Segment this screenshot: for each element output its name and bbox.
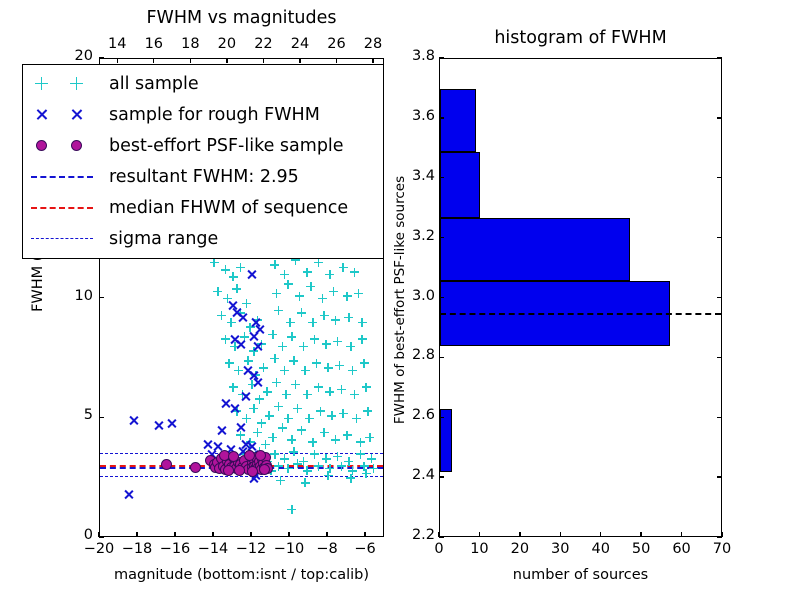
- data-point: [343, 431, 352, 440]
- legend-key: [23, 68, 109, 99]
- data-point: [363, 407, 372, 416]
- histogram-bar: [440, 152, 480, 218]
- data-point: [253, 316, 262, 325]
- data-point: [229, 403, 240, 414]
- data-point: [356, 438, 365, 447]
- hist-xtick-label: 0: [419, 541, 459, 557]
- data-point: [129, 415, 140, 426]
- data-point: [367, 454, 376, 463]
- data-point: [314, 258, 323, 267]
- data-point: [223, 294, 232, 303]
- hist-ytick-right: [717, 237, 722, 238]
- data-point: [274, 402, 283, 411]
- hist-ytick-left: [439, 476, 444, 477]
- data-point: [310, 335, 319, 344]
- data-point: [365, 433, 374, 442]
- hist-ytick-right: [717, 476, 722, 477]
- xtick-label-top: 14: [97, 36, 137, 52]
- legend-entry: best-effort PSF-like sample: [23, 130, 383, 161]
- data-point: [272, 378, 281, 387]
- data-point: [241, 439, 252, 450]
- data-point: [252, 341, 263, 352]
- hist-xtick-label: 10: [459, 541, 499, 557]
- data-point: [213, 287, 222, 296]
- hist-xtick: [681, 532, 682, 537]
- data-point: [252, 377, 263, 388]
- xtick-bottom: [136, 532, 137, 537]
- histogram-bar: [440, 409, 452, 472]
- hist-ytick-left: [439, 357, 444, 358]
- data-point: [203, 439, 214, 450]
- data-point: [153, 420, 164, 431]
- data-point: [337, 385, 346, 394]
- xtick-label-top: 28: [353, 36, 393, 52]
- histogram-bar: [440, 218, 630, 281]
- data-point: [348, 366, 357, 375]
- data-point: [212, 441, 223, 452]
- xtick-bottom: [212, 532, 213, 537]
- ytick-left: [99, 417, 104, 418]
- data-point: [270, 354, 279, 363]
- data-point: [350, 268, 359, 277]
- xtick-top: [117, 58, 118, 63]
- hist-ytick-right: [717, 297, 722, 298]
- reference-line-resultant-fwhm: [100, 467, 383, 469]
- legend-key: [23, 161, 109, 192]
- data-point: [221, 265, 230, 274]
- data-point: [303, 268, 312, 277]
- data-point: [123, 489, 134, 500]
- data-point: [238, 390, 247, 399]
- data-point: [230, 342, 239, 351]
- hist-xtick-label: 50: [621, 541, 661, 557]
- xtick-label-top: 20: [207, 36, 247, 52]
- data-point: [358, 318, 367, 327]
- data-point: [295, 292, 304, 301]
- legend-key: [23, 192, 109, 223]
- data-point: [320, 311, 329, 320]
- plus-icon: [70, 77, 83, 90]
- data-point: [237, 312, 248, 323]
- data-point: [343, 292, 352, 301]
- ytick-label-left: 0: [53, 527, 93, 543]
- histogram-reference-line: [440, 313, 721, 315]
- data-point: [248, 331, 259, 342]
- xtick-top: [336, 58, 337, 63]
- data-point: [235, 422, 246, 433]
- xtick-top: [153, 58, 154, 63]
- left-xaxis-label: magnitude (bottom:isnt / top:calib): [99, 567, 384, 583]
- data-point: [339, 409, 348, 418]
- data-point: [286, 318, 295, 327]
- data-point: [324, 363, 333, 372]
- legend-entry: sigma range: [23, 223, 383, 254]
- data-point: [350, 390, 359, 399]
- ytick-label-left: 10: [53, 288, 93, 304]
- data-point: [257, 454, 268, 465]
- data-point: [229, 334, 240, 345]
- data-point: [331, 316, 340, 325]
- ytick-left: [99, 536, 104, 537]
- legend-label: all sample: [109, 74, 199, 94]
- data-point: [310, 450, 319, 459]
- hist-ytick-label: 2.4: [391, 467, 435, 483]
- ytick-label-left: 20: [53, 48, 93, 64]
- hist-ytick-label: 3.8: [391, 48, 435, 64]
- hist-ytick-right: [717, 536, 722, 537]
- data-point: [255, 447, 264, 456]
- data-point: [268, 330, 277, 339]
- xtick-label-top: 22: [243, 36, 283, 52]
- data-point: [339, 263, 348, 272]
- data-point: [274, 306, 283, 315]
- data-point: [240, 450, 249, 459]
- data-point: [358, 335, 367, 344]
- data-point: [167, 418, 178, 429]
- data-point: [289, 356, 298, 365]
- data-point: [312, 359, 321, 368]
- data-point: [244, 356, 253, 365]
- reference-line-sigma-upper: [100, 453, 383, 454]
- hist-ytick-left: [439, 417, 444, 418]
- legend-key: [23, 223, 109, 254]
- data-point: [255, 450, 266, 461]
- xtick-label-top: 26: [317, 36, 357, 52]
- hist-ytick-right: [717, 357, 722, 358]
- data-point: [240, 332, 249, 341]
- data-point: [265, 411, 274, 420]
- xtick-label-top: 16: [134, 36, 174, 52]
- data-point: [251, 371, 260, 380]
- legend-label: best-effort PSF-like sample: [109, 136, 344, 156]
- hist-ytick-left: [439, 237, 444, 238]
- hist-ytick-right: [717, 177, 722, 178]
- data-point: [248, 370, 259, 381]
- data-point: [257, 419, 266, 428]
- data-point: [278, 423, 287, 432]
- data-point: [299, 342, 308, 351]
- data-point: [248, 453, 259, 464]
- legend-key: [23, 99, 109, 130]
- xtick-top: [299, 58, 300, 63]
- data-point: [219, 450, 230, 461]
- legend-label: sample for rough FWHM: [109, 105, 320, 125]
- hist-ytick-label: 2.2: [391, 527, 435, 543]
- hist-xtick-label: 70: [702, 541, 742, 557]
- histogram-bar: [440, 89, 476, 152]
- data-point: [235, 339, 246, 350]
- xtick-top: [372, 58, 373, 63]
- data-point: [236, 308, 245, 317]
- data-point: [249, 404, 258, 413]
- hist-xtick: [519, 532, 520, 537]
- data-point: [325, 270, 334, 279]
- data-point: [244, 450, 255, 461]
- data-point: [308, 438, 317, 447]
- data-point: [236, 431, 245, 440]
- hist-xtick: [479, 532, 480, 537]
- legend: all samplesample for rough FWHMbest-effo…: [22, 64, 384, 259]
- reference-line-sigma-lower: [100, 476, 383, 477]
- data-point: [362, 383, 371, 392]
- data-point: [248, 473, 259, 484]
- data-point: [303, 390, 312, 399]
- hist-ytick-label: 2.6: [391, 407, 435, 423]
- data-point: [243, 365, 254, 376]
- data-point: [220, 398, 231, 409]
- data-point: [278, 342, 287, 351]
- data-point: [293, 404, 302, 413]
- plus-icon: [35, 77, 48, 90]
- hist-xtick-label: 20: [500, 541, 540, 557]
- data-point: [241, 391, 252, 402]
- data-point: [287, 435, 296, 444]
- data-point: [261, 440, 270, 449]
- data-point: [221, 335, 230, 344]
- data-point: [270, 260, 279, 269]
- hist-ytick-label: 3.0: [391, 288, 435, 304]
- data-point: [249, 347, 258, 356]
- legend-label: median FHWM of sequence: [109, 198, 348, 218]
- data-point: [227, 318, 236, 327]
- circle-icon: [36, 140, 47, 151]
- xtick-bottom: [326, 532, 327, 537]
- xtick-label-top: 18: [170, 36, 210, 52]
- ytick-label-left: 5: [53, 407, 93, 423]
- data-point: [228, 300, 239, 311]
- ytick-left: [99, 57, 104, 58]
- hist-ytick-label: 3.2: [391, 228, 435, 244]
- data-point: [232, 407, 241, 416]
- data-point: [276, 476, 285, 485]
- data-point: [314, 383, 323, 392]
- data-point: [301, 478, 310, 487]
- data-point: [308, 318, 317, 327]
- xtick-bottom: [174, 532, 175, 537]
- hist-ytick-left: [439, 536, 444, 537]
- data-point: [255, 395, 264, 404]
- data-point: [289, 447, 298, 456]
- histogram-plot-area: [440, 59, 721, 536]
- hist-ytick-right: [717, 117, 722, 118]
- right-xaxis-label: number of sources: [439, 567, 722, 583]
- data-point: [247, 441, 258, 452]
- hist-xtick-label: 40: [581, 541, 621, 557]
- legend-entry: sample for rough FWHM: [23, 99, 383, 130]
- data-point: [232, 284, 241, 293]
- data-point: [246, 323, 255, 332]
- hist-ytick-label: 3.4: [391, 168, 435, 184]
- data-point: [305, 414, 314, 423]
- data-point: [236, 263, 245, 272]
- right-plot-title: histogram of FWHM: [439, 28, 722, 48]
- data-point: [280, 366, 289, 375]
- data-point: [316, 407, 325, 416]
- data-point: [306, 282, 315, 291]
- data-point: [344, 313, 353, 322]
- hist-xtick: [600, 532, 601, 537]
- data-point: [225, 359, 234, 368]
- hist-ytick-right: [717, 417, 722, 418]
- data-point: [272, 289, 281, 298]
- data-point: [246, 438, 255, 447]
- data-point: [291, 380, 300, 389]
- data-point: [237, 446, 248, 457]
- ytick-left: [99, 297, 104, 298]
- xtick-bottom: [250, 532, 251, 537]
- data-point: [250, 317, 261, 328]
- data-point: [318, 294, 327, 303]
- data-point: [229, 383, 238, 392]
- xtick-top: [190, 58, 191, 63]
- hist-xtick-label: 30: [540, 541, 580, 557]
- hist-xtick: [560, 532, 561, 537]
- data-point: [254, 324, 265, 335]
- legend-label: resultant FWHM: 2.95: [109, 167, 299, 187]
- dashed-line-icon: [31, 176, 93, 178]
- data-point: [242, 414, 251, 423]
- data-point: [320, 428, 329, 437]
- data-point: [229, 272, 238, 281]
- data-point: [354, 289, 363, 298]
- data-point: [263, 387, 272, 396]
- hist-ytick-label: 3.6: [391, 108, 435, 124]
- hist-xtick: [640, 532, 641, 537]
- histogram-axes: [439, 58, 722, 537]
- xtick-top: [263, 58, 264, 63]
- hist-ytick-left: [439, 117, 444, 118]
- data-point: [253, 428, 262, 437]
- hist-ytick-right: [717, 57, 722, 58]
- data-point: [329, 287, 338, 296]
- data-point: [216, 425, 227, 436]
- data-point: [287, 332, 296, 341]
- data-point: [280, 270, 289, 279]
- xtick-bottom: [288, 532, 289, 537]
- data-point: [247, 269, 258, 280]
- data-point: [301, 366, 310, 375]
- data-point: [270, 450, 279, 459]
- legend-label: sigma range: [109, 229, 218, 249]
- data-point: [297, 426, 306, 435]
- data-point: [356, 450, 365, 459]
- data-point: [331, 435, 340, 444]
- hist-ytick-left: [439, 177, 444, 178]
- circle-icon: [71, 140, 82, 151]
- data-point: [322, 340, 331, 349]
- data-point: [325, 387, 334, 396]
- data-point: [248, 454, 257, 463]
- legend-entry: resultant FWHM: 2.95: [23, 161, 383, 192]
- data-point: [333, 337, 342, 346]
- data-point: [257, 340, 266, 349]
- data-point: [346, 342, 355, 351]
- data-point: [242, 299, 251, 308]
- xtick-bottom: [364, 532, 365, 537]
- legend-entry: all sample: [23, 68, 383, 99]
- data-point: [284, 280, 293, 289]
- data-point: [360, 359, 369, 368]
- data-point: [217, 311, 226, 320]
- data-point: [280, 454, 289, 463]
- data-point: [216, 453, 227, 464]
- xtick-top: [226, 58, 227, 63]
- cross-icon: [35, 108, 48, 121]
- xtick-label-top: 24: [280, 36, 320, 52]
- left-plot-title: FWHM vs magnitudes: [99, 8, 384, 28]
- legend-key: [23, 130, 109, 161]
- hist-xtick-label: 60: [662, 541, 702, 557]
- data-point: [352, 414, 361, 423]
- cross-icon: [70, 108, 83, 121]
- legend-entry: median FHWM of sequence: [23, 192, 383, 223]
- data-point: [268, 433, 277, 442]
- data-point: [231, 307, 242, 318]
- reference-line-median-fwhm: [100, 465, 383, 467]
- data-point: [207, 449, 218, 460]
- data-point: [282, 390, 291, 399]
- data-point: [210, 258, 219, 267]
- data-point: [322, 454, 331, 463]
- dashdot-line-icon: [31, 238, 93, 239]
- hist-ytick-label: 2.8: [391, 347, 435, 363]
- hist-ytick-left: [439, 57, 444, 58]
- data-point: [335, 361, 344, 370]
- figure-canvas: FWHM vs magnitudes magnitude (bottom:isn…: [0, 0, 800, 600]
- data-point: [259, 363, 268, 372]
- data-point: [327, 411, 336, 420]
- xtick-label-bottom: −6: [342, 541, 388, 557]
- data-point: [297, 308, 306, 317]
- dashed-line-icon: [31, 207, 93, 209]
- data-point: [248, 449, 259, 460]
- data-point: [284, 414, 293, 423]
- hist-ytick-left: [439, 297, 444, 298]
- data-point: [234, 366, 243, 375]
- data-point: [248, 380, 257, 389]
- data-point: [287, 505, 296, 514]
